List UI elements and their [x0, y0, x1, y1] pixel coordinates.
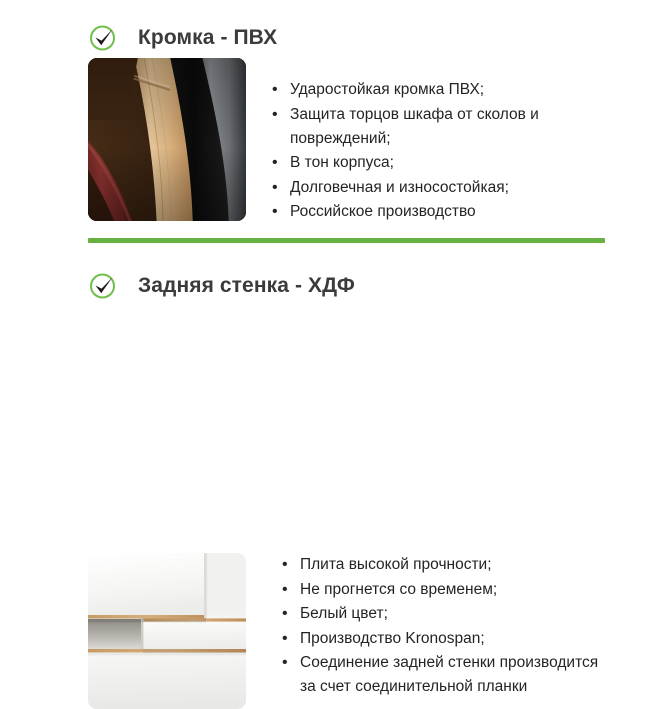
green-check-circle-icon: [88, 269, 120, 301]
section-title: Кромка - ПВХ: [138, 27, 277, 48]
section-edge-banding: Кромка - ПВХ: [0, 0, 652, 232]
section-heading-edge: Кромка - ПВХ: [88, 20, 277, 54]
section-title: Задняя стенка - ХДФ: [138, 275, 355, 296]
list-item: Ударостойкая кромка ПВХ;: [272, 78, 602, 102]
green-check-circle-icon: [88, 21, 120, 53]
section-heading-back: Задняя стенка - ХДФ: [88, 268, 355, 302]
list-item: В тон корпуса;: [272, 151, 602, 175]
list-item: Защита торцов шкафа от сколов и поврежде…: [272, 103, 602, 151]
list-item: Плита высокой прочности;: [282, 553, 612, 577]
list-item: Белый цвет;: [282, 602, 612, 626]
pvc-edge-banding-photo: [88, 58, 246, 221]
list-item: Не прогнется со временем;: [282, 578, 612, 602]
list-item: Российское производство: [272, 200, 602, 224]
list-item: Производство Kronospan;: [282, 627, 612, 651]
back-panel-feature-list: Плита высокой прочности; Не прогнется со…: [282, 553, 612, 700]
hdf-back-panel-photo: [88, 553, 246, 709]
list-item: Долговечная и износостойкая;: [272, 176, 602, 200]
list-item: Соединение задней стенки производится за…: [282, 651, 612, 699]
section-back-panel: Задняя стенка - ХДФ: [0, 248, 652, 500]
section-divider: [88, 238, 605, 243]
edge-banding-feature-list: Ударостойкая кромка ПВХ; Защита торцов ш…: [272, 78, 602, 225]
